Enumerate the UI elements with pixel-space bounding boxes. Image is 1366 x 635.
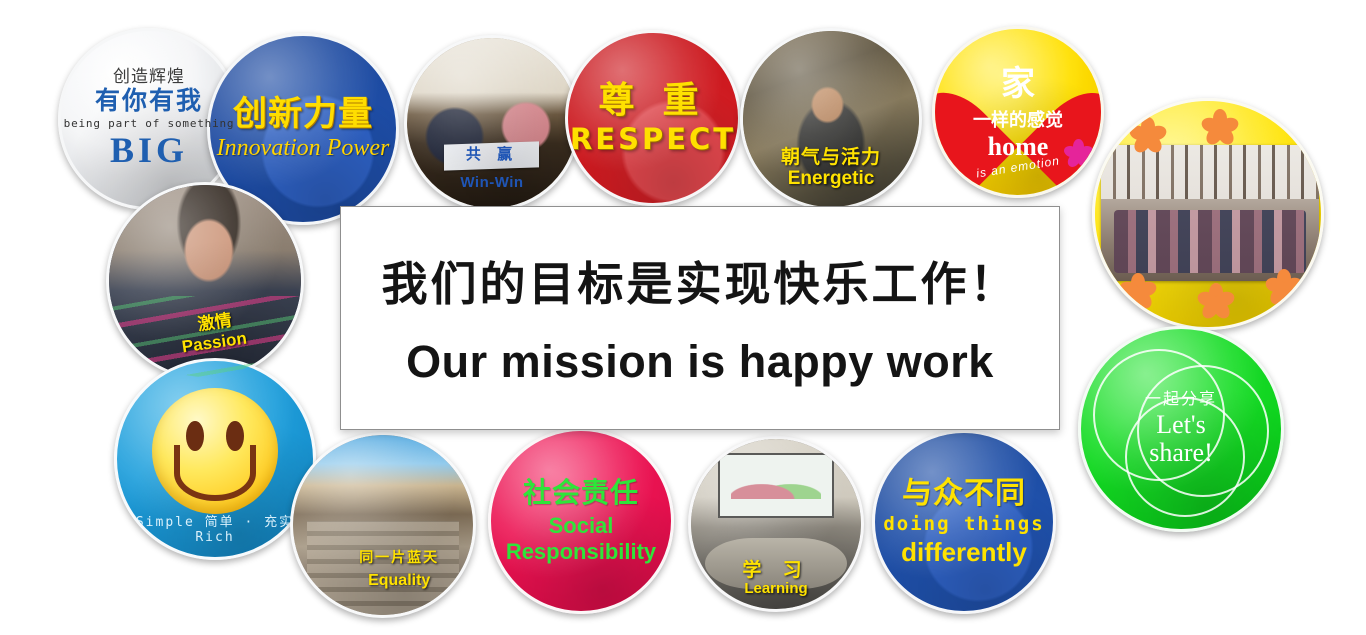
energetic-english: Energetic	[743, 168, 919, 190]
flower-icon	[1065, 139, 1091, 165]
innovation-chinese: 创新力量	[210, 96, 396, 133]
smiley-face-icon	[152, 388, 277, 513]
badge-simple-rich[interactable]: Simple 简单 · 充实 Rich	[114, 358, 316, 560]
flower-icon	[1267, 269, 1301, 303]
respect-chinese: 尊 重	[568, 81, 738, 120]
flower-icon	[1131, 117, 1165, 151]
culture-values-collage: 创造辉煌 有你有我 being part of something BIG 创新…	[0, 0, 1366, 635]
badge-team-photo[interactable]	[1092, 98, 1324, 330]
mission-english: Our mission is happy work	[406, 336, 994, 388]
badge-learning[interactable]: 学 习 Learning	[688, 436, 864, 612]
energetic-chinese: 朝气与活力	[743, 142, 919, 169]
respect-english: RESPECT	[568, 124, 738, 155]
big-line1: 创造辉煌	[61, 68, 237, 86]
badge-caption: 一起分享 Let's share!	[1081, 391, 1281, 466]
group-photo	[1101, 145, 1319, 281]
winwin-english: Win-Win	[407, 174, 577, 191]
smile-caption: Simple 简单 · 充实 Rich	[117, 511, 313, 545]
mission-chinese: 我们的目标是实现快乐工作！	[382, 248, 1019, 314]
badge-passion[interactable]: 激情 Passion	[106, 182, 304, 380]
badge-social-responsibility[interactable]: 社会责任 Social Responsibility	[488, 428, 674, 614]
home-line1: 家	[935, 56, 1101, 105]
different-english-line2: differently	[875, 538, 1053, 566]
badge-home[interactable]: 家 一样的感觉 home is an emotion	[932, 26, 1104, 198]
flower-icon	[1199, 283, 1233, 317]
winwin-chinese: 共 赢	[407, 143, 577, 164]
badge-energetic[interactable]: 朝气与活力 Energetic	[740, 28, 922, 210]
equality-chinese: 同一片蓝天	[325, 547, 473, 567]
presentation-screen	[718, 453, 834, 518]
share-english-line2: share!	[1081, 439, 1281, 467]
badge-respect[interactable]: 尊 重 RESPECT	[565, 30, 741, 206]
badge-caption: 尊 重 RESPECT	[568, 81, 738, 155]
share-chinese: 一起分享	[1081, 391, 1281, 408]
badge-win-win[interactable]: 共 赢 Win-Win	[404, 35, 580, 211]
flower-icon	[1203, 109, 1237, 143]
badge-caption: 社会责任 Social Responsibility	[491, 478, 671, 564]
learning-english: Learning	[691, 580, 861, 597]
badge-doing-things-differently[interactable]: 与众不同 doing things differently	[872, 430, 1056, 614]
social-english-line2: Responsibility	[491, 540, 671, 564]
mission-banner: 我们的目标是实现快乐工作！ Our mission is happy work	[340, 206, 1060, 430]
equality-english: Equality	[325, 572, 473, 590]
social-english-line1: Social	[491, 514, 671, 538]
share-english-line1: Let's	[1081, 411, 1281, 439]
smiley-mouth	[174, 445, 257, 501]
flower-icon	[1121, 273, 1155, 307]
badge-equality[interactable]: 同一片蓝天 Equality	[290, 432, 476, 618]
different-english-line1: doing things	[875, 514, 1053, 535]
learning-chinese: 学 习	[691, 555, 861, 582]
badge-caption: 创新力量 Innovation Power	[210, 96, 396, 163]
innovation-english: Innovation Power	[210, 136, 396, 162]
social-chinese: 社会责任	[491, 478, 671, 508]
badge-lets-share[interactable]: 一起分享 Let's share!	[1078, 326, 1284, 532]
home-line2: 一样的感觉	[935, 106, 1101, 132]
different-chinese: 与众不同	[875, 478, 1053, 510]
badge-caption: 与众不同 doing things differently	[875, 478, 1053, 567]
